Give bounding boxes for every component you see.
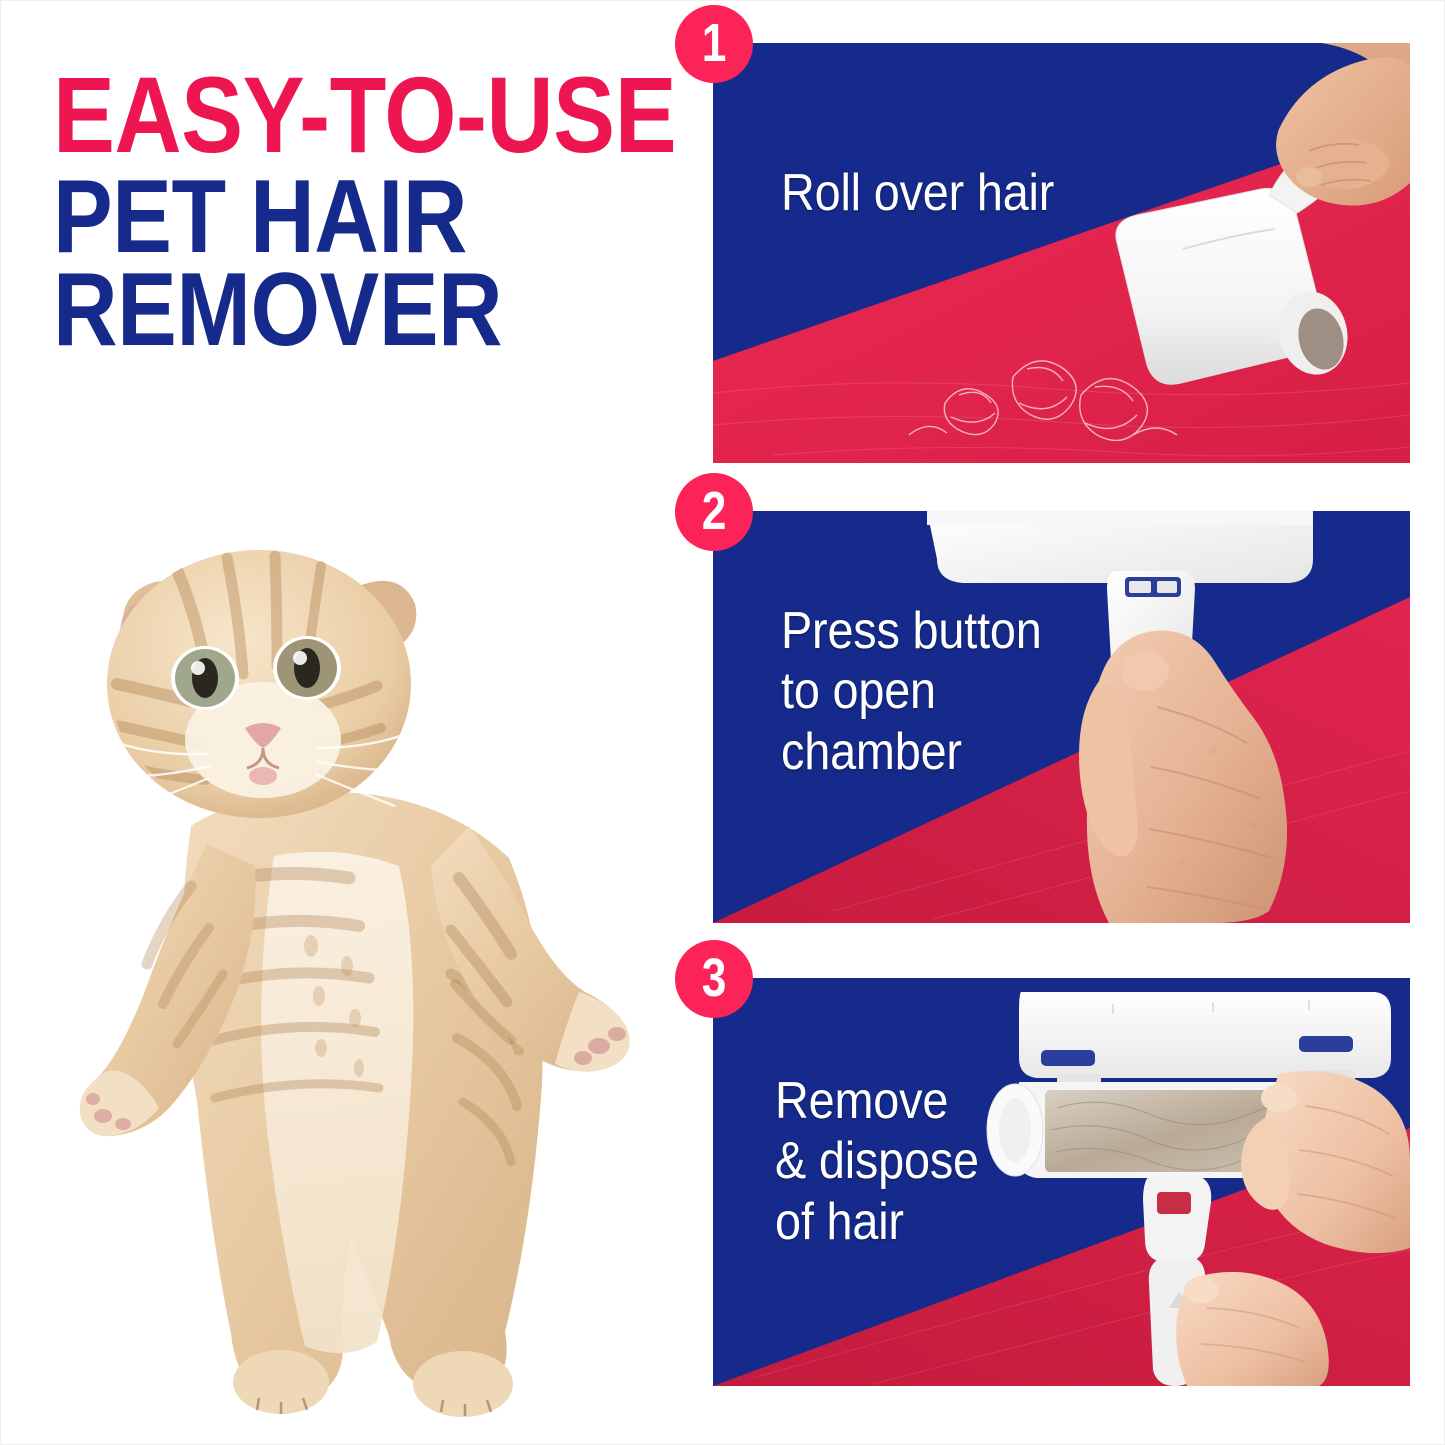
step-2-line-2: to open (781, 661, 1042, 721)
kitten-hind-paws (233, 1350, 513, 1417)
lid-latch-right (1299, 1036, 1353, 1052)
step-3-line-1: Remove (775, 1071, 979, 1131)
step-1-photo (713, 43, 1410, 463)
step-panel-2: Press button to open chamber 2 (713, 511, 1410, 923)
kitten-head (107, 550, 416, 818)
step-2-text: Press button to open chamber (781, 601, 1071, 782)
page-title: EASY-TO-USE PET HAIR REMOVER (53, 69, 673, 356)
step-2-line-1: Press button (781, 601, 1042, 661)
lid-latch-left (1041, 1050, 1095, 1066)
step-1-text: Roll over hair (781, 163, 1085, 223)
step-3-line-2: & dispose (775, 1131, 979, 1191)
headline-line-2: PET HAIR (53, 173, 586, 262)
step-3-badge: 3 (675, 940, 753, 1018)
release-button (1157, 1192, 1191, 1214)
kitten-photo (59, 526, 679, 1431)
headline-line-1: EASY-TO-USE (53, 69, 586, 162)
step-1-line-1: Roll over hair (781, 163, 1054, 223)
step-3-number: 3 (702, 951, 727, 1005)
step-panel-3: Remove & dispose of hair 3 (713, 978, 1410, 1386)
kitten-illustration (59, 526, 679, 1431)
step-3-line-3: of hair (775, 1192, 979, 1252)
step-1-badge: 1 (675, 5, 753, 83)
step-2-line-3: chamber (781, 722, 1042, 782)
step-1-number: 1 (702, 16, 727, 70)
step-2-number: 2 (702, 484, 727, 538)
step-3-text: Remove & dispose of hair (775, 1071, 1002, 1252)
step-2-badge: 2 (675, 473, 753, 551)
step-panel-1: Roll over hair 1 (713, 43, 1410, 463)
headline-line-3: REMOVER (53, 266, 586, 355)
fingertip (1121, 651, 1169, 691)
product-infographic: EASY-TO-USE PET HAIR REMOVER (0, 0, 1445, 1445)
